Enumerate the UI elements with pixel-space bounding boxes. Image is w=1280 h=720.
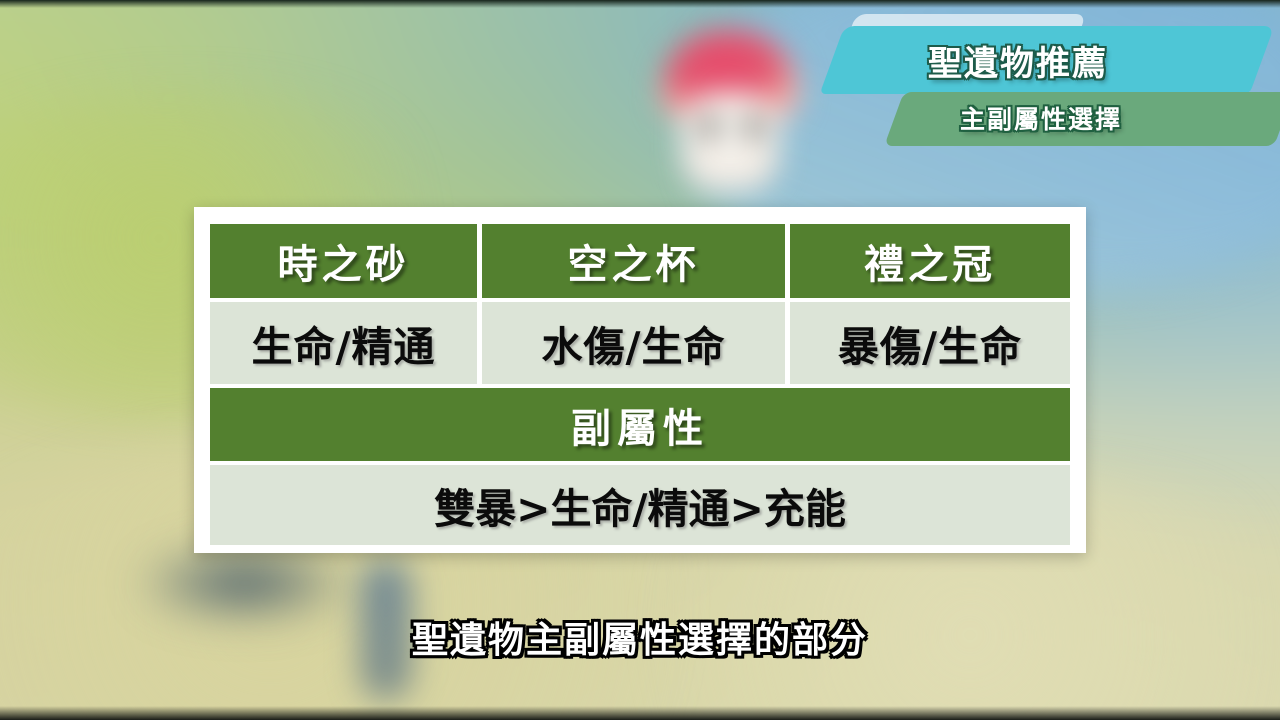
video-frame: 聖遺物推薦 主副屬性選擇 時之砂 空之杯 禮之冠 生命/精通 水傷/生命 暴傷/… [0,0,1280,720]
header-banner: 聖遺物推薦 主副屬性選擇 [810,0,1280,150]
artifact-stats-table: 時之砂 空之杯 禮之冠 生命/精通 水傷/生命 暴傷/生命 副屬性 雙暴>生命/… [194,207,1086,553]
table-header-sands: 時之砂 [210,224,477,298]
mushroom-eye-right-icon [746,116,759,138]
table-header-substats: 副屬性 [210,388,1070,461]
table-value-substats: 雙暴>生命/精通>充能 [210,465,1070,545]
table-header-circlet: 禮之冠 [790,224,1070,298]
main-stat-header-row: 時之砂 空之杯 禮之冠 [210,224,1070,298]
stats-grid: 時之砂 空之杯 禮之冠 生命/精通 水傷/生命 暴傷/生命 副屬性 雙暴>生命/… [210,224,1070,540]
sub-stat-header-row: 副屬性 [210,388,1070,461]
table-header-goblet: 空之杯 [482,224,785,298]
banner-title: 聖遺物推薦 [928,36,1108,85]
banner-subtitle: 主副屬性選擇 [960,100,1122,136]
mushroom-eye-left-icon [704,116,717,138]
video-caption: 聖遺物主副屬性選擇的部分 [0,611,1280,663]
main-stat-value-row: 生命/精通 水傷/生命 暴傷/生命 [210,302,1070,384]
table-value-circlet: 暴傷/生命 [790,302,1070,384]
bottom-edge-gradient [0,706,1280,720]
mushroom-stem-icon [680,92,780,192]
table-value-sands: 生命/精通 [210,302,477,384]
sub-stat-value-row: 雙暴>生命/精通>充能 [210,465,1070,545]
mushroom-character-icon [650,30,810,200]
table-value-goblet: 水傷/生命 [482,302,785,384]
